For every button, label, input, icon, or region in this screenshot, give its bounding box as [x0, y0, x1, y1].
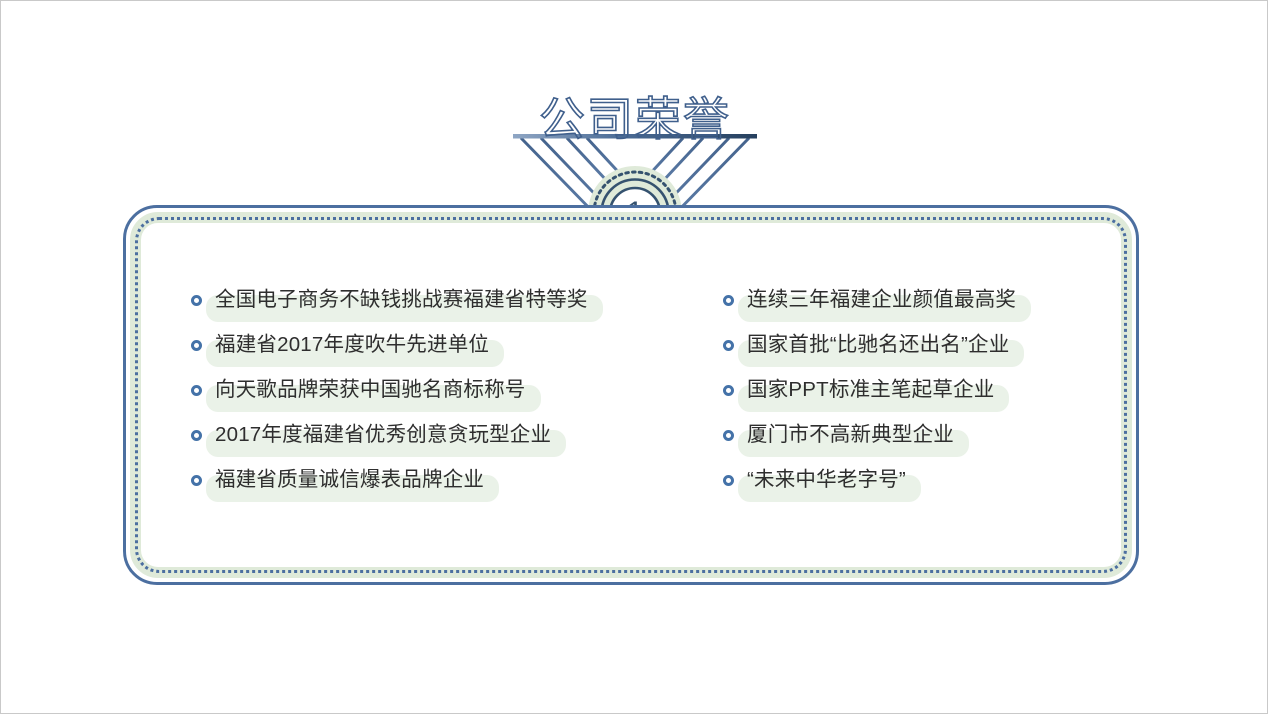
list-item: “未来中华老字号”	[723, 467, 1139, 512]
bullet-icon	[723, 295, 734, 306]
honor-label: 国家首批“比驰名还出名”企业	[747, 332, 1009, 358]
list-item: 国家首批“比驰名还出名”企业	[723, 332, 1139, 377]
honor-label: 连续三年福建企业颜值最高奖	[747, 287, 1016, 313]
bullet-icon	[191, 385, 202, 396]
list-item: 2017年度福建省优秀创意贪玩型企业	[191, 422, 639, 467]
honor-label: 福建省质量诚信爆表品牌企业	[215, 467, 484, 493]
honor-label: 国家PPT标准主笔起草企业	[747, 377, 994, 403]
bullet-icon	[191, 430, 202, 441]
list-item: 全国电子商务不缺钱挑战赛福建省特等奖	[191, 287, 639, 332]
honor-label: “未来中华老字号”	[747, 467, 906, 493]
list-item: 连续三年福建企业颜值最高奖	[723, 287, 1139, 332]
honors-right-column: 连续三年福建企业颜值最高奖 国家首批“比驰名还出名”企业 国家PPT标准主笔起草…	[639, 205, 1139, 585]
page-title: 公司荣誉	[1, 93, 1268, 145]
list-item: 向天歌品牌荣获中国驰名商标称号	[191, 377, 639, 422]
list-item: 福建省2017年度吹牛先进单位	[191, 332, 639, 377]
honors-content: 全国电子商务不缺钱挑战赛福建省特等奖 福建省2017年度吹牛先进单位 向天歌品牌…	[123, 205, 1139, 585]
bullet-icon	[191, 340, 202, 351]
bullet-icon	[723, 385, 734, 396]
list-item: 厦门市不高新典型企业	[723, 422, 1139, 467]
bullet-icon	[191, 475, 202, 486]
bullet-icon	[191, 295, 202, 306]
list-item: 国家PPT标准主笔起草企业	[723, 377, 1139, 422]
honors-left-column: 全国电子商务不缺钱挑战赛福建省特等奖 福建省2017年度吹牛先进单位 向天歌品牌…	[123, 205, 639, 585]
bullet-icon	[723, 340, 734, 351]
honor-label: 向天歌品牌荣获中国驰名商标称号	[215, 377, 526, 403]
honor-label: 福建省2017年度吹牛先进单位	[215, 332, 489, 358]
slide: 1 公司荣誉 全国电子商务不缺钱挑战赛福建省特等奖 福建省2017年度吹牛先进单…	[0, 0, 1268, 714]
list-item: 福建省质量诚信爆表品牌企业	[191, 467, 639, 512]
honor-label: 厦门市不高新典型企业	[747, 422, 954, 448]
bullet-icon	[723, 430, 734, 441]
honor-label: 2017年度福建省优秀创意贪玩型企业	[215, 422, 551, 448]
bullet-icon	[723, 475, 734, 486]
honor-label: 全国电子商务不缺钱挑战赛福建省特等奖	[215, 287, 588, 313]
